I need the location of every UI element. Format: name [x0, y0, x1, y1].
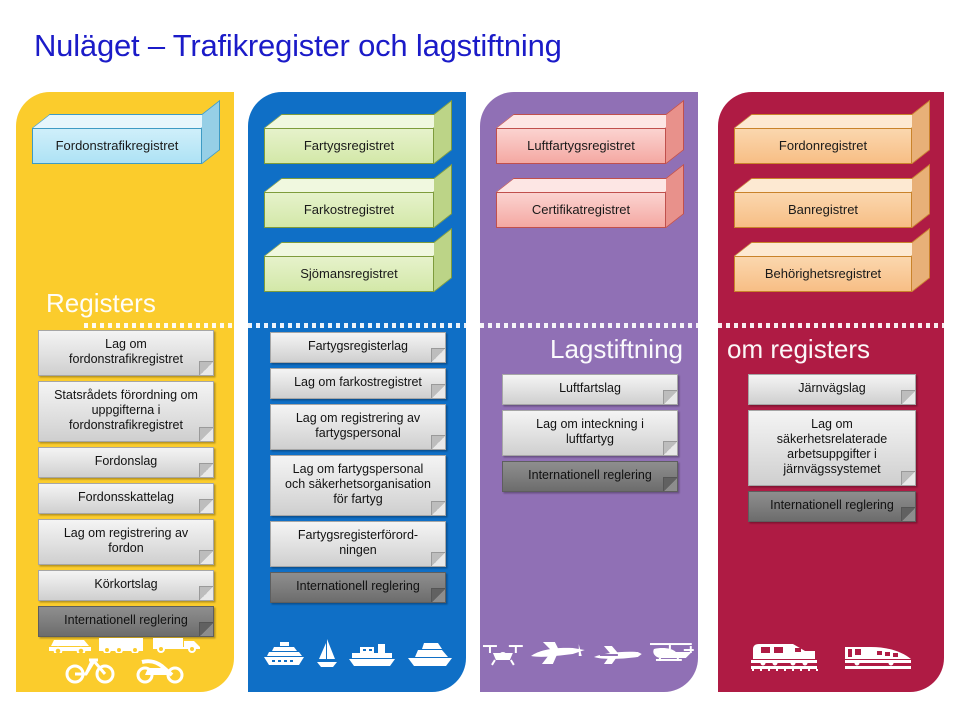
register-label: Certifikatregistret: [496, 192, 666, 228]
bicycle-icon: [64, 654, 116, 684]
heading-registers: Registers: [46, 288, 156, 319]
law-item[interactable]: Fordonslag: [38, 447, 214, 478]
law-item[interactable]: Lag om fartygspersonal och säkerhetsorga…: [270, 455, 446, 516]
box-top-face: [734, 114, 930, 128]
law-item-international[interactable]: Internationell reglering: [270, 572, 446, 603]
register-stack-aviation: Luftfartygsregistret Certifikatregistret: [496, 114, 684, 242]
register-stack-maritime: Fartygsregistret Farkostregistret Sjöman…: [264, 114, 452, 306]
law-item[interactable]: Luftfartslag: [502, 374, 678, 405]
law-item[interactable]: Lag om registrering av fartygspersonal: [270, 404, 446, 450]
register-label: Luftfartygsregistret: [496, 128, 666, 164]
law-item[interactable]: Lag om säkerhetsrelaterade arbetsuppgift…: [748, 410, 916, 486]
drone-icon: [480, 640, 526, 668]
column-rail: Fordonregistret Banregistret Behörighets…: [718, 92, 944, 692]
law-item[interactable]: Lag om farkostregistret: [270, 368, 446, 399]
sailboat-icon: [315, 637, 339, 669]
airliner-icon: [592, 644, 644, 668]
box-side-face: [434, 164, 452, 228]
register-label: Fartygsregistret: [264, 128, 434, 164]
register-label: Fordonregistret: [734, 128, 912, 164]
propeller-plane-icon: [529, 640, 589, 668]
box-side-face: [666, 100, 684, 164]
law-stack-road: Lag om fordonstrafikregistret Statsrådet…: [38, 330, 214, 642]
column-maritime: Fartygsregistret Farkostregistret Sjöman…: [248, 92, 466, 692]
section-divider-road: [84, 323, 234, 328]
register-stack-road: Fordonstrafikregistret: [32, 114, 220, 178]
register-box[interactable]: Banregistret: [734, 178, 930, 228]
helicopter-icon: [646, 640, 698, 668]
register-box[interactable]: Fordonstrafikregistret: [32, 114, 220, 164]
transport-icons-road-2: [16, 654, 234, 684]
register-label: Fordonstrafikregistret: [32, 128, 202, 164]
law-item-international[interactable]: Internationell reglering: [38, 606, 214, 637]
heading-om-registers: om registers: [727, 334, 870, 365]
box-top-face: [496, 178, 684, 192]
box-side-face: [666, 164, 684, 228]
law-item[interactable]: Fartygsregisterlag: [270, 332, 446, 363]
law-stack-maritime: Fartygsregisterlag Lag om farkostregistr…: [270, 332, 446, 608]
transport-icons-maritime: [248, 637, 466, 669]
cruise-ship-icon: [260, 639, 308, 669]
law-item[interactable]: Statsrådets förordning om uppgifterna i …: [38, 381, 214, 442]
register-label: Sjömansregistret: [264, 256, 434, 292]
register-label: Behörighetsregistret: [734, 256, 912, 292]
column-aviation: Luftfartygsregistret Certifikatregistret…: [480, 92, 698, 692]
high-speed-train-icon: [843, 637, 913, 671]
transport-icons-aviation: [480, 640, 698, 668]
box-side-face: [912, 100, 930, 164]
box-top-face: [734, 178, 930, 192]
box-side-face: [202, 100, 220, 164]
law-item-international[interactable]: Internationell reglering: [502, 461, 678, 492]
heading-lagstiftning: Lagstiftning: [550, 334, 683, 365]
register-box[interactable]: Certifikatregistret: [496, 178, 684, 228]
box-side-face: [912, 228, 930, 292]
register-box[interactable]: Sjömansregistret: [264, 242, 452, 292]
box-top-face: [32, 114, 220, 128]
box-top-face: [496, 114, 684, 128]
register-stack-rail: Fordonregistret Banregistret Behörighets…: [734, 114, 930, 306]
law-item[interactable]: Körkortslag: [38, 570, 214, 601]
law-item-international[interactable]: Internationell reglering: [748, 491, 916, 522]
register-box[interactable]: Farkostregistret: [264, 178, 452, 228]
box-top-face: [734, 242, 930, 256]
box-top-face: [264, 114, 452, 128]
register-box[interactable]: Fartygsregistret: [264, 114, 452, 164]
law-stack-aviation: Luftfartslag Lag om inteckning i luftfar…: [502, 374, 678, 497]
section-divider-maritime: [248, 323, 466, 328]
law-item[interactable]: Lag om inteckning i luftfartyg: [502, 410, 678, 456]
register-label: Farkostregistret: [264, 192, 434, 228]
law-item[interactable]: Fartygsregisterförord-ningen: [270, 521, 446, 567]
slide-canvas: Nuläget – Trafikregister och lagstiftnin…: [0, 0, 960, 720]
moped-icon: [134, 654, 186, 684]
yacht-icon: [405, 639, 455, 669]
section-divider-rail: [718, 323, 944, 328]
law-item[interactable]: Järnvägslag: [748, 374, 916, 405]
law-item[interactable]: Lag om registrering av fordon: [38, 519, 214, 565]
register-box[interactable]: Luftfartygsregistret: [496, 114, 684, 164]
box-top-face: [264, 178, 452, 192]
law-item[interactable]: Lag om fordonstrafikregistret: [38, 330, 214, 376]
box-side-face: [434, 100, 452, 164]
transport-icons-rail: [718, 637, 944, 671]
register-label: Banregistret: [734, 192, 912, 228]
box-side-face: [434, 228, 452, 292]
register-box[interactable]: Fordonregistret: [734, 114, 930, 164]
cargo-ship-icon: [346, 639, 398, 669]
register-box[interactable]: Behörighetsregistret: [734, 242, 930, 292]
box-side-face: [912, 164, 930, 228]
law-item[interactable]: Fordonsskattelag: [38, 483, 214, 514]
box-top-face: [264, 242, 452, 256]
page-title: Nuläget – Trafikregister och lagstiftnin…: [34, 28, 562, 64]
law-stack-rail: Järnvägslag Lag om säkerhetsrelaterade a…: [748, 374, 916, 527]
column-road: Fordonstrafikregistret Lag om fordonstra…: [16, 92, 234, 692]
locomotive-icon: [749, 637, 821, 671]
section-divider-aviation: [480, 323, 698, 328]
